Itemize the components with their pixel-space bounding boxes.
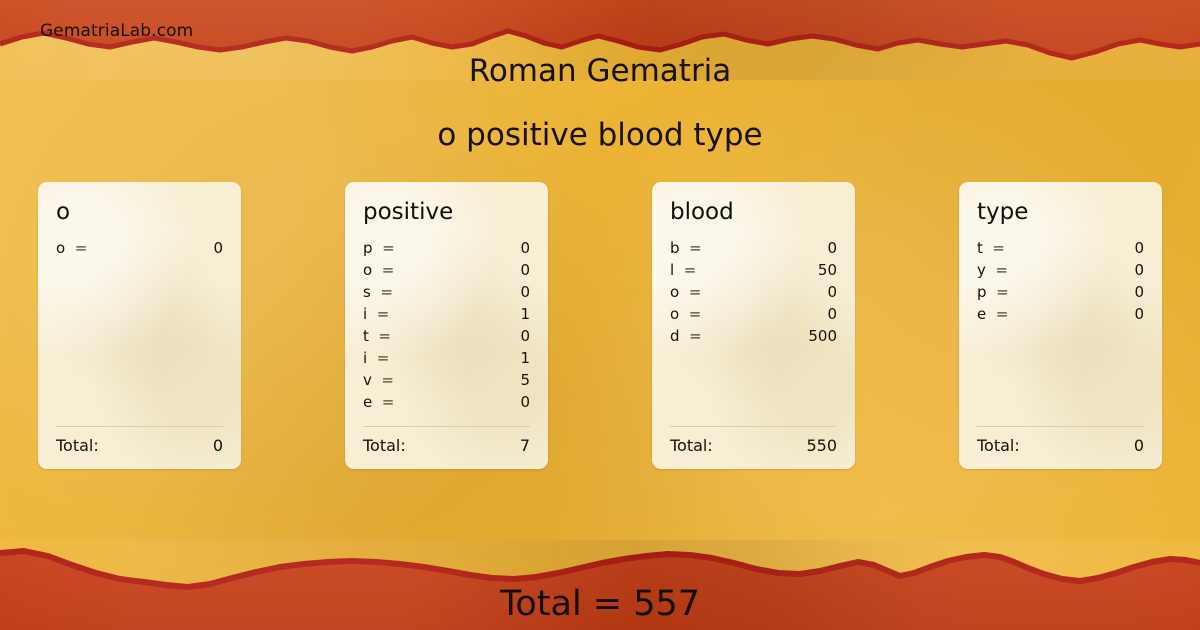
- letter-value: 0: [701, 303, 837, 325]
- card-total-row: Total: 0: [977, 436, 1144, 455]
- equals-sign: =: [996, 281, 1009, 303]
- letter-label: o: [56, 237, 65, 259]
- card-divider: [670, 426, 837, 427]
- letter-label: y: [977, 259, 986, 281]
- equals-sign: =: [996, 303, 1009, 325]
- letter-label: t: [363, 325, 369, 347]
- letter-label: i: [363, 303, 367, 325]
- letter-value: 0: [1008, 259, 1144, 281]
- letter-value: 0: [702, 237, 837, 259]
- letter-label: o: [670, 303, 679, 325]
- equals-sign: =: [382, 259, 395, 281]
- word-card: blood b = 0 l = 50 o = 0 o: [652, 182, 855, 469]
- letter-label: t: [977, 237, 983, 259]
- letter-row: o = 0: [56, 237, 223, 259]
- letter-row: i = 1: [363, 303, 530, 325]
- letter-label: l: [670, 259, 674, 281]
- equals-sign: =: [689, 303, 702, 325]
- card-total-row: Total: 7: [363, 436, 530, 455]
- word-card: o o = 0 Total: 0: [38, 182, 241, 469]
- equals-sign: =: [380, 281, 393, 303]
- equals-sign: =: [689, 325, 702, 347]
- letter-label: s: [363, 281, 371, 303]
- letter-value: 0: [394, 259, 530, 281]
- card-word-heading: blood: [670, 200, 837, 225]
- letter-value: 0: [87, 237, 223, 259]
- equals-sign: =: [381, 369, 394, 391]
- site-watermark: GematriaLab.com: [40, 21, 193, 41]
- card-total-label: Total:: [363, 436, 406, 455]
- letter-value: 0: [394, 391, 530, 413]
- card-letter-rows: o = 0: [56, 237, 223, 424]
- card-total-value: 0: [1020, 436, 1144, 455]
- letter-row: p = 0: [363, 237, 530, 259]
- card-total-label: Total:: [670, 436, 713, 455]
- equals-sign: =: [382, 237, 395, 259]
- letter-row: y = 0: [977, 259, 1144, 281]
- letter-row: e = 0: [977, 303, 1144, 325]
- letter-value: 0: [1008, 303, 1144, 325]
- card-total-label: Total:: [977, 436, 1020, 455]
- equals-sign: =: [377, 303, 390, 325]
- card-total-label: Total:: [56, 436, 99, 455]
- equals-sign: =: [689, 237, 702, 259]
- gematria-card-canvas: GematriaLab.com Roman Gematria o positiv…: [0, 0, 1200, 630]
- letter-label: i: [363, 347, 367, 369]
- equals-sign: =: [377, 347, 390, 369]
- word-card: type t = 0 y = 0 p = 0 e: [959, 182, 1162, 469]
- letter-value: 50: [696, 259, 837, 281]
- equals-sign: =: [995, 259, 1008, 281]
- phrase-subtitle: o positive blood type: [0, 118, 1200, 154]
- letter-label: e: [363, 391, 372, 413]
- card-divider: [56, 426, 223, 427]
- card-total-value: 550: [713, 436, 837, 455]
- letter-row: o = 0: [670, 303, 837, 325]
- word-cards-row: o o = 0 Total: 0 positive p =: [38, 182, 1162, 469]
- card-total-row: Total: 550: [670, 436, 837, 455]
- letter-label: o: [363, 259, 372, 281]
- card-total-value: 0: [99, 436, 223, 455]
- letter-label: p: [977, 281, 987, 303]
- letter-label: e: [977, 303, 986, 325]
- letter-row: v = 5: [363, 369, 530, 391]
- letter-value: 0: [1009, 281, 1144, 303]
- equals-sign: =: [684, 259, 697, 281]
- letter-value: 5: [394, 369, 530, 391]
- card-total-row: Total: 0: [56, 436, 223, 455]
- letter-row: t = 0: [977, 237, 1144, 259]
- letter-value: 0: [1005, 237, 1144, 259]
- card-divider: [977, 426, 1144, 427]
- equals-sign: =: [382, 391, 395, 413]
- letter-row: b = 0: [670, 237, 837, 259]
- card-total-value: 7: [406, 436, 530, 455]
- letter-value: 0: [393, 281, 530, 303]
- equals-sign: =: [378, 325, 391, 347]
- card-word-heading: type: [977, 200, 1144, 225]
- letter-row: i = 1: [363, 347, 530, 369]
- card-letter-rows: p = 0 o = 0 s = 0 i = 1: [363, 237, 530, 424]
- equals-sign: =: [75, 237, 88, 259]
- letter-row: t = 0: [363, 325, 530, 347]
- card-letter-rows: b = 0 l = 50 o = 0 o = 0: [670, 237, 837, 424]
- letter-label: v: [363, 369, 372, 391]
- letter-value: 0: [701, 281, 837, 303]
- letter-value: 500: [702, 325, 837, 347]
- letter-row: e = 0: [363, 391, 530, 413]
- letter-row: s = 0: [363, 281, 530, 303]
- card-letter-rows: t = 0 y = 0 p = 0 e = 0: [977, 237, 1144, 424]
- letter-label: o: [670, 281, 679, 303]
- letter-value: 0: [395, 237, 530, 259]
- equals-sign: =: [689, 281, 702, 303]
- letter-row: o = 0: [363, 259, 530, 281]
- page-title: Roman Gematria: [0, 54, 1200, 90]
- grand-total-text: Total = 557: [0, 585, 1200, 624]
- letter-row: o = 0: [670, 281, 837, 303]
- letter-row: p = 0: [977, 281, 1144, 303]
- card-word-heading: o: [56, 200, 223, 225]
- letter-row: d = 500: [670, 325, 837, 347]
- letter-row: l = 50: [670, 259, 837, 281]
- heading-group: Roman Gematria o positive blood type: [0, 54, 1200, 153]
- letter-value: 1: [389, 347, 530, 369]
- word-card: positive p = 0 o = 0 s = 0 i: [345, 182, 548, 469]
- bottom-band-edge-stroke: [0, 551, 1200, 587]
- letter-value: 0: [391, 325, 530, 347]
- letter-label: b: [670, 237, 680, 259]
- letter-label: d: [670, 325, 680, 347]
- card-word-heading: positive: [363, 200, 530, 225]
- letter-value: 1: [389, 303, 530, 325]
- equals-sign: =: [992, 237, 1005, 259]
- letter-label: p: [363, 237, 373, 259]
- card-divider: [363, 426, 530, 427]
